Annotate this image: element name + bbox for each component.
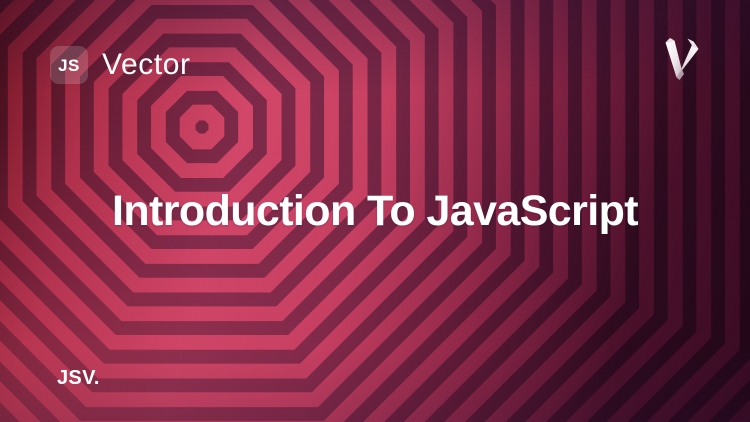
page-title: Introduction To JavaScript: [112, 188, 638, 235]
vector-v-logo-icon: [657, 33, 703, 83]
brand-name: Vector: [102, 50, 191, 80]
slide-canvas: JS Vector: [0, 0, 750, 422]
js-badge-icon: JS: [50, 46, 88, 84]
footer-mark: JSV.: [57, 368, 100, 388]
js-badge-label: JS: [58, 57, 80, 74]
brand-lockup: JS Vector: [50, 46, 191, 84]
